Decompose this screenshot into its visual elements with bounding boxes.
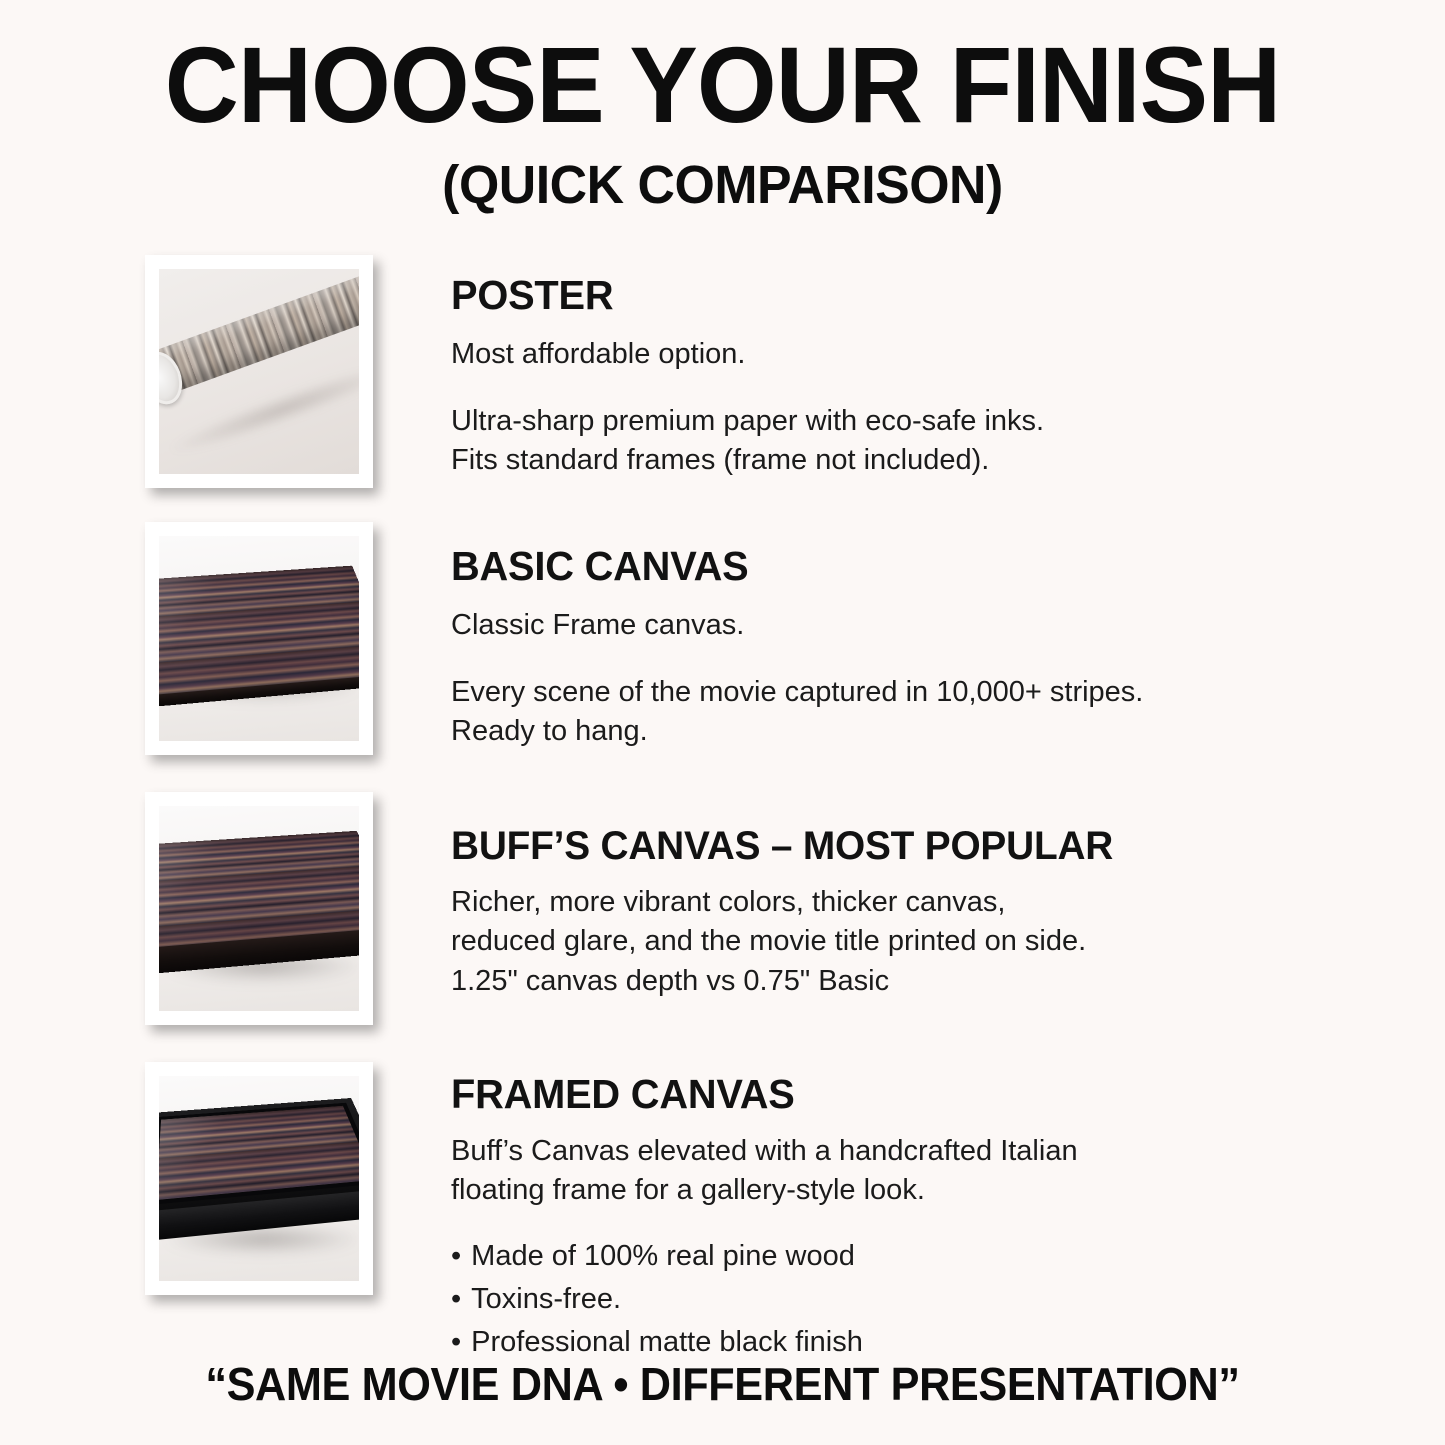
product-image-card-basic-canvas bbox=[145, 522, 373, 755]
page-subtitle: (QUICK COMPARISON) bbox=[29, 156, 1416, 215]
finish-title-poster: POSTER bbox=[451, 273, 1026, 319]
finish-title-basic-canvas: BASIC CANVAS bbox=[451, 544, 1123, 590]
framed-canvas-corner-photo bbox=[159, 1076, 359, 1281]
finish-row-poster: POSTER Most affordable option. Ultra-sha… bbox=[145, 255, 1325, 488]
finish-body-poster: Ultra-sharp premium paper with eco-safe … bbox=[451, 402, 1044, 481]
canvas-slab bbox=[159, 566, 359, 698]
product-image-card-poster bbox=[145, 255, 373, 488]
header: CHOOSE YOUR FINISH (QUICK COMPARISON) bbox=[0, 28, 1445, 216]
product-image-card-buffs-canvas bbox=[145, 792, 373, 1025]
finish-body-framed-canvas: Buff’s Canvas elevated with a handcrafte… bbox=[451, 1132, 1078, 1211]
finish-lead-poster: Most affordable option. bbox=[451, 335, 1044, 374]
finish-body-buffs-canvas: Richer, more vibrant colors, thicker can… bbox=[451, 883, 1134, 1001]
finish-bullets-framed-canvas: Made of 100% real pine wood Toxins-free.… bbox=[451, 1235, 1078, 1364]
finish-text-poster: POSTER Most affordable option. Ultra-sha… bbox=[373, 255, 1044, 481]
finish-row-buffs-canvas: BUFF’S CANVAS – MOST POPULAR Richer, mor… bbox=[145, 792, 1365, 1025]
finish-row-framed-canvas: FRAMED CANVAS Buff’s Canvas elevated wit… bbox=[145, 1062, 1325, 1364]
finish-row-basic-canvas: BASIC CANVAS Classic Frame canvas. Every… bbox=[145, 522, 1325, 755]
framed-canvas-slab bbox=[159, 1098, 359, 1213]
finish-text-buffs-canvas: BUFF’S CANVAS – MOST POPULAR Richer, mor… bbox=[373, 792, 1134, 1001]
product-image-card-framed-canvas bbox=[145, 1062, 373, 1295]
finish-lead-basic-canvas: Classic Frame canvas. bbox=[451, 606, 1143, 645]
finish-title-buffs-canvas: BUFF’S CANVAS – MOST POPULAR bbox=[451, 824, 1113, 869]
canvas-slab bbox=[159, 831, 359, 950]
list-item: Toxins-free. bbox=[451, 1278, 1078, 1321]
infographic-page: CHOOSE YOUR FINISH (QUICK COMPARISON) PO… bbox=[0, 0, 1445, 1445]
rolled-poster-photo bbox=[159, 269, 359, 474]
page-title: CHOOSE YOUR FINISH bbox=[36, 28, 1409, 142]
finish-title-framed-canvas: FRAMED CANVAS bbox=[451, 1072, 1059, 1118]
buffs-canvas-corner-photo bbox=[159, 806, 359, 1011]
finish-body-basic-canvas: Every scene of the movie captured in 10,… bbox=[451, 673, 1143, 752]
finish-text-basic-canvas: BASIC CANVAS Classic Frame canvas. Every… bbox=[373, 522, 1143, 752]
canvas-print-face bbox=[159, 566, 359, 698]
finish-text-framed-canvas: FRAMED CANVAS Buff’s Canvas elevated wit… bbox=[373, 1062, 1078, 1364]
basic-canvas-corner-photo bbox=[159, 536, 359, 741]
footer-tagline: “SAME MOVIE DNA • DIFFERENT PRESENTATION… bbox=[43, 1357, 1401, 1411]
list-item: Made of 100% real pine wood bbox=[451, 1235, 1078, 1278]
